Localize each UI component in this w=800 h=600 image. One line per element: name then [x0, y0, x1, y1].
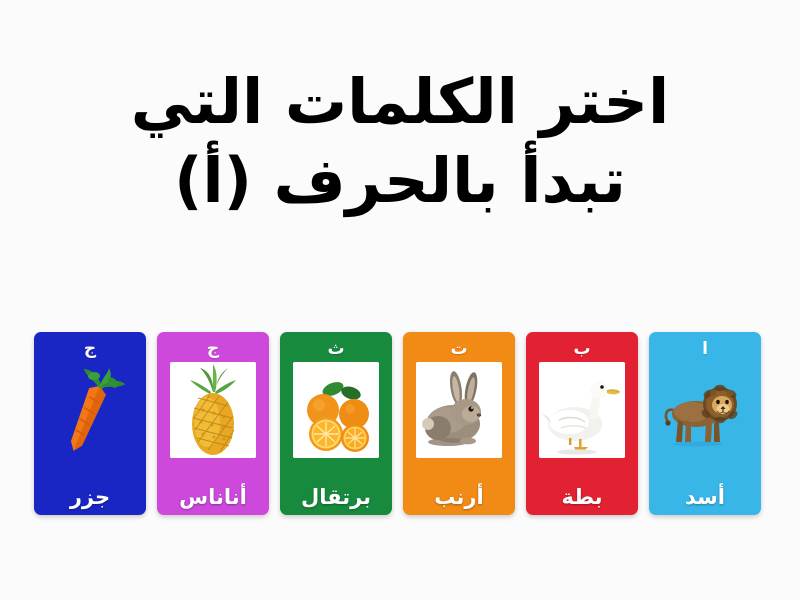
card-label: أرنب — [403, 487, 515, 508]
page-title-line-2: تبدأ بالحرف (أ) — [60, 141, 740, 220]
card-letter: ا — [702, 341, 708, 358]
card-letter: ت — [450, 341, 467, 358]
rabbit-image — [416, 362, 502, 458]
card-label: جزر — [34, 487, 146, 508]
card-label: أناناس — [157, 487, 269, 508]
card-letter: ج — [207, 341, 219, 358]
card-letter: ج — [84, 341, 96, 358]
pineapple-image — [170, 362, 256, 458]
flashcard-strip: ج جزر ج — [0, 332, 800, 518]
page-title: اختر الكلمات التي تبدأ بالحرف (أ) — [0, 62, 800, 221]
carrot-image — [47, 362, 133, 458]
flashcard-lion[interactable]: ا — [649, 332, 761, 515]
card-letter: ث — [327, 341, 344, 358]
page-title-line-1: اختر الكلمات التي — [60, 62, 740, 141]
flashcard-pineapple[interactable]: ج — [157, 332, 269, 515]
flashcard-duck[interactable]: ب — [526, 332, 638, 515]
lion-image — [662, 362, 748, 458]
orange-image — [293, 362, 379, 458]
card-label: أسد — [649, 487, 761, 508]
flashcard-orange[interactable]: ث — [280, 332, 392, 515]
flashcard-rabbit[interactable]: ت — [403, 332, 515, 515]
card-label: بطة — [526, 487, 638, 508]
card-label: برتقال — [280, 487, 392, 508]
duck-image — [539, 362, 625, 458]
flashcard-carrot[interactable]: ج جزر — [34, 332, 146, 515]
card-letter: ب — [573, 341, 590, 358]
